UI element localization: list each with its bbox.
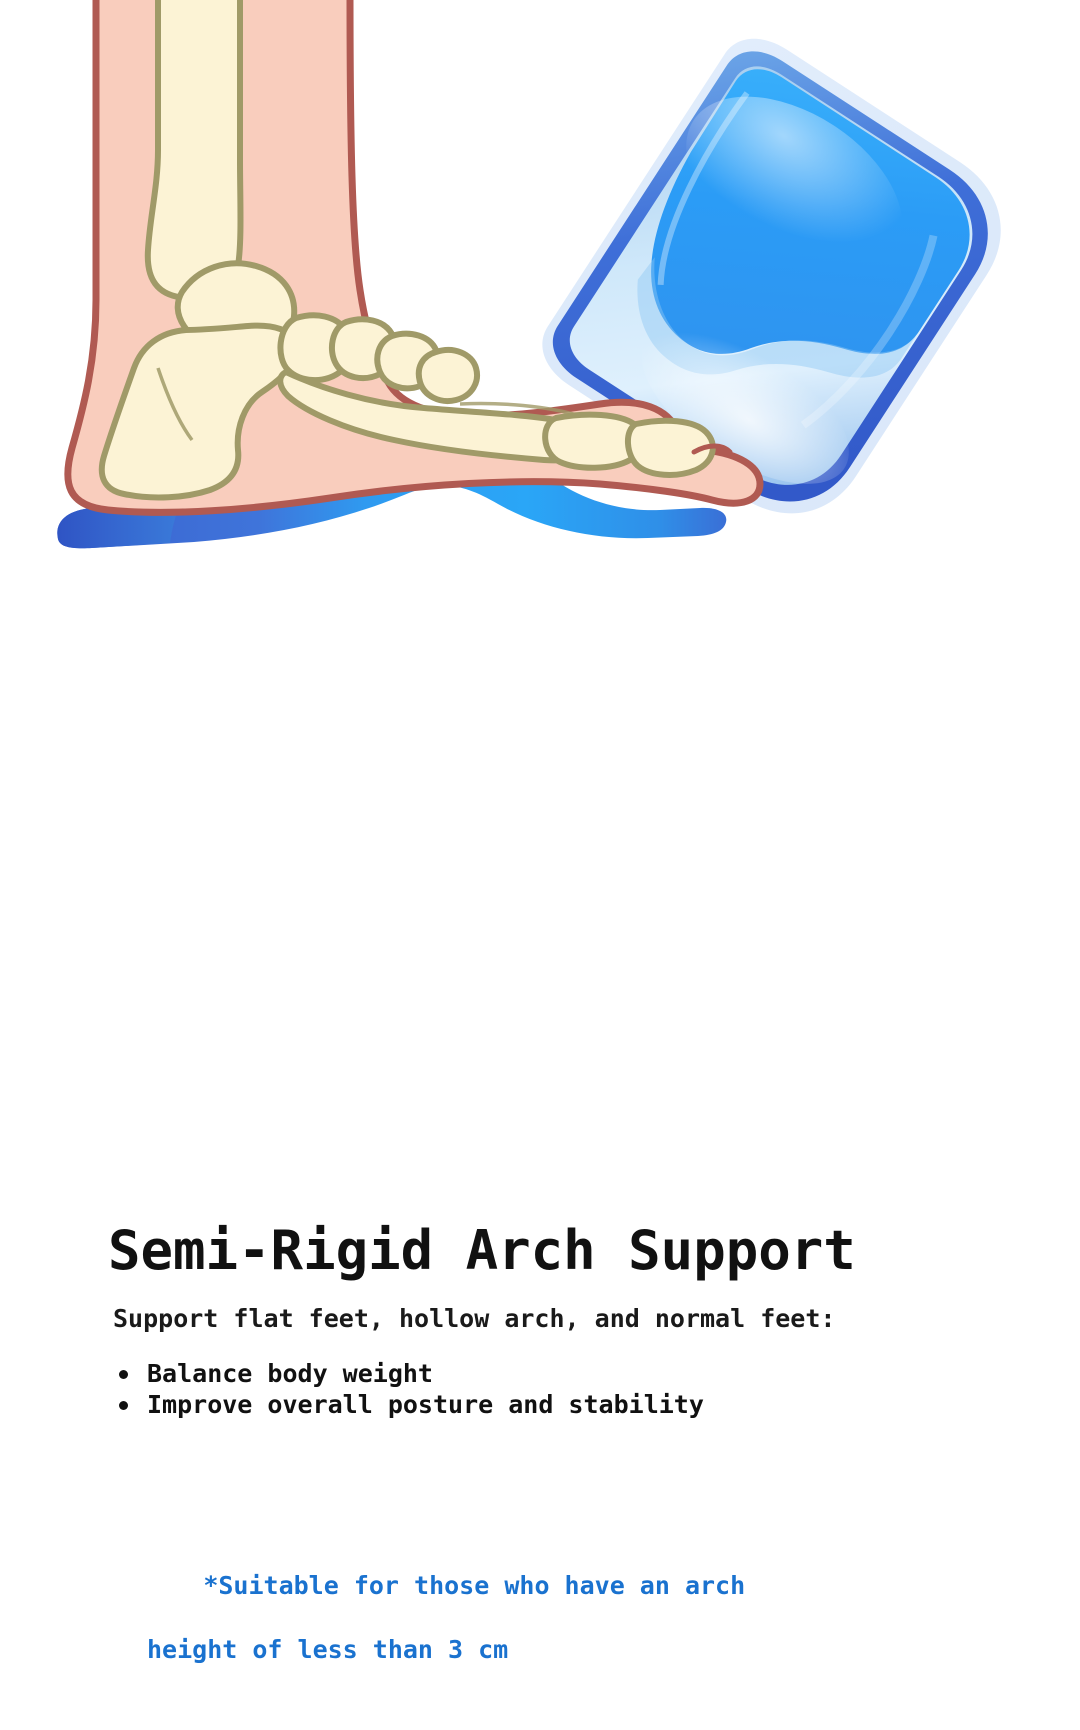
list-item: Balance body weight xyxy=(113,1358,704,1389)
list-item: Improve overall posture and stability xyxy=(113,1389,704,1420)
tibia-bone xyxy=(148,0,241,298)
footnote-line-2: height of less than 3 cm xyxy=(113,1634,745,1666)
text-content: Semi-Rigid Arch Support Support flat fee… xyxy=(0,600,1080,1080)
cuneiform-bone-3 xyxy=(419,350,477,401)
footnote: *Suitable for those who have an arch hei… xyxy=(113,1538,745,1730)
benefits-list: Balance body weight Improve overall post… xyxy=(113,1358,704,1420)
illustration-area xyxy=(0,0,1080,600)
page-title: Semi-Rigid Arch Support xyxy=(108,1224,856,1278)
footnote-line-1: *Suitable for those who have an arch xyxy=(203,1571,745,1600)
product-infographic: Semi-Rigid Arch Support Support flat fee… xyxy=(0,0,1080,1080)
subtitle: Support flat feet, hollow arch, and norm… xyxy=(113,1306,835,1331)
